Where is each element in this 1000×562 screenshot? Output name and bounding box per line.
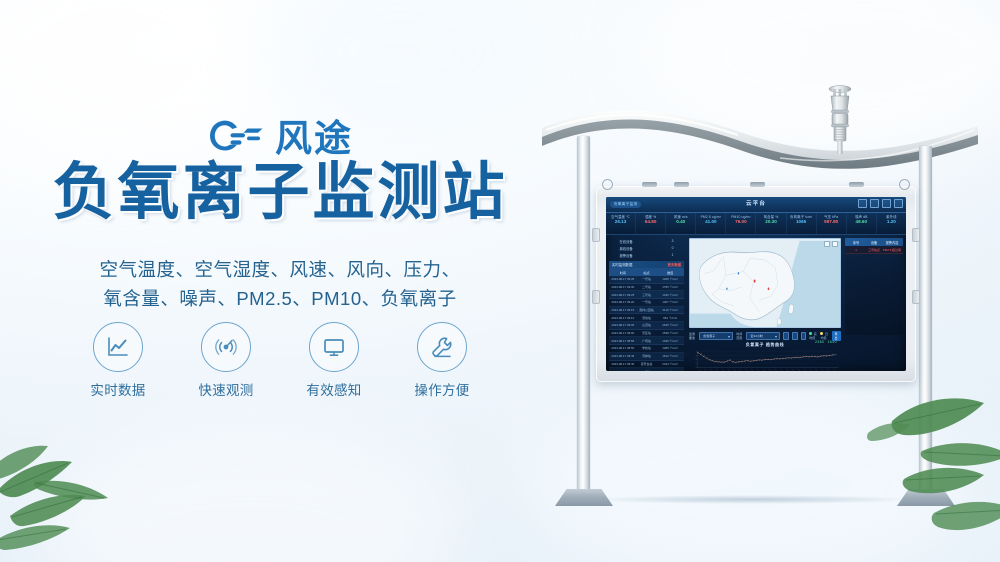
chart-range-select[interactable]: 近24小时 (746, 332, 780, 340)
chart-view-bar-icon[interactable] (801, 332, 807, 340)
legend-dot-icon (820, 332, 823, 335)
base-plate-left (555, 489, 613, 506)
mini-stat-label: 离线设备 (620, 246, 633, 251)
subtitle: 空气温度、空气湿度、风速、风向、压力、 氧含量、噪声、PM2.5、PM10、负氧… (0, 256, 560, 313)
support-pole-right (919, 146, 932, 496)
mini-stat-value: 0 (672, 246, 674, 251)
chart-legend-item-1[interactable]: 实时值 (809, 332, 817, 340)
table-row[interactable]: 2023-08-17 08:35 入口站 1175 个/cm³ (609, 368, 684, 371)
toolbar-icon[interactable] (882, 199, 891, 208)
toolbar-icon[interactable] (894, 199, 903, 208)
alarm-column-header: 设备 (865, 240, 883, 245)
feature-label: 操作方便 (414, 379, 469, 399)
table-row[interactable]: 2023-08-17 08:40 观景台站 2234 个/cm³ (609, 361, 684, 369)
kpi-card: 湿度 % 64.80 (636, 213, 666, 234)
kpi-card: PM2.5 ug/m³ 41.00 (696, 213, 726, 234)
line-chart-icon (105, 334, 131, 360)
table-row[interactable]: 2023-08-17 09:25 三号站 1430 个/cm³ (609, 291, 684, 299)
hero-banner: 风途 负氧离子监测站 空气温度、空气湿度、风速、风向、压力、 氧含量、噪声、PM… (0, 0, 1000, 562)
feature-label: 实时数据 (90, 379, 145, 399)
mini-stat-label: 报警设备 (620, 253, 633, 258)
kpi-card: PM10 ug/m³ 76.00 (726, 213, 756, 234)
table-row[interactable]: 2023-08-17 08:50 学校站 1289 个/cm³ (609, 345, 684, 353)
dashboard-body: 在线设备 3 离线设备 0 报警设备 1 实时监测数据 (606, 235, 906, 371)
chart-readout: 2380 1640 (815, 340, 837, 344)
kpi-value: 64.80 (636, 219, 665, 226)
feature-list: 实时数据 快速观测 (0, 322, 560, 399)
trend-chart-svg (689, 349, 841, 371)
ultrasonic-weather-sensor-icon (823, 82, 857, 154)
wrench-icon (429, 334, 455, 360)
mini-stat: 在线设备 3 (618, 238, 676, 244)
kpi-card: 负氧离子 /cm³ 1065 (787, 213, 817, 234)
frame-clip (750, 182, 765, 187)
ground-shadow (552, 494, 952, 505)
page-title: 负氧离子监测站 (0, 160, 560, 227)
base-plate-right (897, 489, 955, 506)
frame-side-tab (592, 228, 600, 242)
frame-clip (674, 182, 689, 187)
subtitle-line-1: 空气温度、空气湿度、风速、风向、压力、 (0, 256, 560, 285)
chart-view-table-icon[interactable] (783, 332, 789, 340)
table-row[interactable]: 2023-08-17 09:15 森林公园站 2119 个/cm³ (609, 307, 684, 315)
feature-icon-wrap (93, 322, 143, 372)
kpi-value: 20.30 (756, 219, 785, 226)
dashboard-center-panel: 监测要素 负氧离子 时间范围 近24小时 实时值 日均值 导出 (687, 235, 843, 371)
chart-view-line-icon[interactable] (792, 332, 798, 340)
chart-filter-label-left: 监测要素 (689, 332, 696, 340)
chart-filter-label-right: 时间范围 (736, 332, 743, 340)
feature-item-effective-sensing[interactable]: 有效感知 (306, 322, 362, 399)
table-row[interactable]: 2023-08-17 09:00 景区站 1538 个/cm³ (609, 330, 684, 338)
kpi-value: 41.00 (696, 219, 725, 226)
frame-side-tab (912, 290, 920, 304)
chart-legend-item-2[interactable]: 日均值 (820, 332, 828, 340)
kpi-card: 空气温度 ℃ 26.13 (606, 213, 636, 234)
feature-item-realtime-data[interactable]: 实时数据 (90, 322, 146, 399)
map-zoom-in-icon[interactable] (824, 241, 830, 247)
table-header-row: 时间 站点 数值 (609, 268, 684, 276)
frame-clip (849, 182, 864, 187)
feature-label: 有效感知 (306, 379, 361, 399)
toolbar-icon[interactable] (858, 199, 867, 208)
mini-stat-value: 3 (672, 239, 674, 244)
dashboard-left-panel: 在线设备 3 离线设备 0 报警设备 1 实时监测数据 (606, 235, 687, 371)
kpi-card: 风速 m/s 0.40 (666, 213, 696, 234)
feature-item-easy-operation[interactable]: 操作方便 (414, 322, 470, 399)
feature-label: 快速观测 (198, 379, 253, 399)
frame-clip (642, 182, 657, 187)
frame-side-tab (592, 290, 600, 304)
kpi-value: 0.40 (666, 219, 695, 226)
map-zoom-out-icon[interactable] (832, 241, 838, 247)
table-row[interactable]: 2023-08-17 09:20 一号站 1307 个/cm³ (609, 299, 684, 307)
display-frame: 负氧离子监测 云平台 空气温度 ℃ 26.13 湿度 % (596, 186, 916, 382)
dashboard-screen[interactable]: 负氧离子监测 云平台 空气温度 ℃ 26.13 湿度 % (606, 197, 906, 371)
table-row[interactable]: 2023-08-17 09:05 山顶站 2645 个/cm³ (609, 322, 684, 330)
frame-side-tab (912, 228, 920, 242)
kpi-card: 紫外线 1.20 (877, 213, 906, 234)
chart-element-select[interactable]: 负氧离子 (699, 332, 733, 340)
china-map[interactable] (689, 238, 841, 328)
radar-wave-icon (213, 334, 239, 360)
table-heading: 实时监测数据 更多数据 (609, 261, 684, 269)
kpi-value: 26.13 (606, 219, 635, 226)
alarm-column-header: 报警内容 (883, 240, 901, 245)
table-row[interactable]: 2023-08-17 08:55 广场站 1046 个/cm³ (609, 337, 684, 345)
legend-dot-icon (809, 332, 812, 335)
wave-canopy (540, 104, 980, 170)
mini-stat-label: 在线设备 (620, 239, 633, 244)
feature-item-fast-observation[interactable]: 快速观测 (198, 322, 254, 399)
alarm-column-header: 序号 (847, 240, 865, 245)
kpi-value: 997.80 (817, 219, 846, 226)
product-illustration: 负氧离子监测 云平台 空气温度 ℃ 26.13 湿度 % (520, 0, 1000, 562)
kpi-value: 1.20 (877, 219, 906, 226)
kpi-value: 48.60 (847, 219, 876, 226)
subtitle-line-2: 氧含量、噪声、PM2.5、PM10、负氧离子 (0, 285, 560, 314)
toolbar-icon[interactable] (870, 199, 879, 208)
mount-hook-icon (899, 179, 910, 190)
kpi-strip: 空气温度 ℃ 26.13 湿度 % 64.80 风速 m/s 0.40 PM2.… (606, 213, 906, 235)
kpi-card: 噪声 dB 48.60 (847, 213, 877, 234)
kpi-card: 氧含量 % 20.30 (756, 213, 786, 234)
kpi-value: 1065 (787, 219, 816, 226)
trend-chart[interactable] (689, 349, 841, 371)
dashboard-right-panel: 序号 设备 报警内容 1 三号站点 PM2.5 超过阈值报警 (843, 235, 906, 371)
dashboard-toolbar[interactable] (858, 199, 903, 208)
china-map-svg (690, 239, 840, 327)
table-heading-label: 实时监测数据 (612, 262, 632, 267)
monitor-icon (321, 334, 347, 360)
table-column-header: 数值 (658, 270, 682, 275)
kpi-value: 76.00 (726, 219, 755, 226)
table-row[interactable]: 2023-08-17 09:10 湿地站 981 个/cm³ (609, 314, 684, 322)
table-column-header: 站点 (635, 270, 659, 275)
mount-hook-icon (602, 179, 613, 190)
table-row[interactable]: 2023-08-17 08:45 河岸站 1612 个/cm³ (609, 353, 684, 361)
table-more-link[interactable]: 更多数据 (667, 262, 681, 267)
dashboard-header: 负氧离子监测 云平台 (606, 197, 906, 213)
feature-icon-wrap (201, 322, 251, 372)
alarm-row[interactable]: 1 三号站点 PM2.5 超过阈值报警 (845, 246, 903, 254)
table-row[interactable]: 2023-08-17 09:30 二号站 1786 个/cm³ (609, 284, 684, 292)
feature-icon-wrap (417, 322, 467, 372)
mini-stat-value: 1 (672, 253, 674, 258)
mini-stat: 报警设备 1 (618, 252, 676, 258)
mini-stat: 离线设备 0 (618, 245, 676, 251)
table-row[interactable]: 2023-08-17 09:35 一号站 1208 个/cm³ (609, 276, 684, 284)
alarm-header-row: 序号 设备 报警内容 (845, 238, 903, 246)
support-pole-left (577, 136, 590, 496)
table-column-header: 时间 (611, 270, 635, 275)
alarm-empty-area (845, 254, 903, 335)
brand-name: 风途 (275, 120, 353, 157)
map-controls[interactable] (824, 241, 838, 247)
brand-logo: 风途 (0, 112, 560, 164)
wind-g-logo-icon (207, 118, 265, 158)
kpi-card: 气压 kPa 997.80 (817, 213, 847, 234)
feature-icon-wrap (309, 322, 359, 372)
text-column: 风途 负氧离子监测站 空气温度、空气湿度、风速、风向、压力、 氧含量、噪声、PM… (0, 0, 560, 562)
